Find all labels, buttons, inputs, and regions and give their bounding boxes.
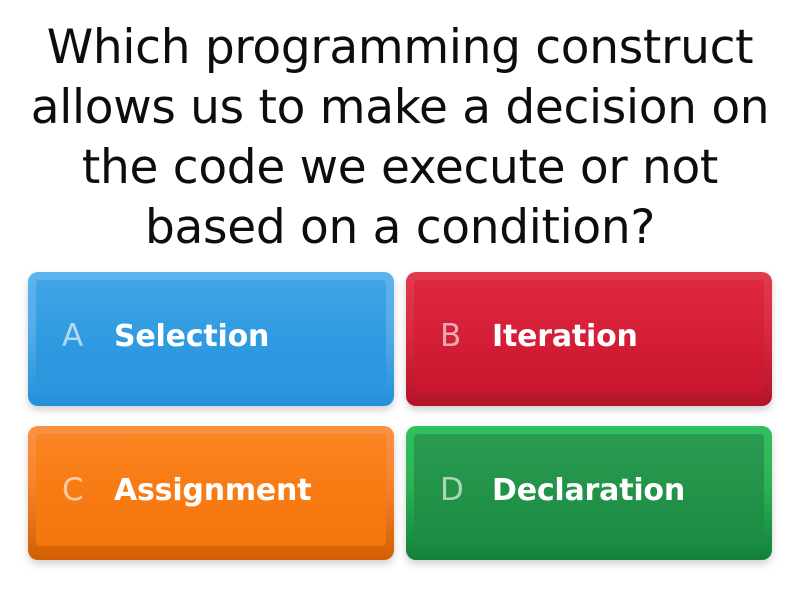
question-area: Which programming construct allows us to… bbox=[0, 0, 800, 272]
answer-option-a-face: A Selection bbox=[36, 280, 386, 392]
answer-option-b-face: B Iteration bbox=[414, 280, 764, 392]
answer-option-b-letter: B bbox=[440, 321, 492, 352]
answer-option-a-label: Selection bbox=[114, 320, 269, 353]
answer-option-c-face: C Assignment bbox=[36, 434, 386, 546]
answer-option-a-letter: A bbox=[62, 321, 114, 352]
answer-option-d-label: Declaration bbox=[492, 474, 685, 507]
question-text: Which programming construct allows us to… bbox=[30, 18, 770, 258]
answer-option-b[interactable]: B Iteration bbox=[406, 272, 772, 406]
answer-option-c-letter: C bbox=[62, 475, 114, 506]
quiz-screen: Which programming construct allows us to… bbox=[0, 0, 800, 600]
answer-option-c[interactable]: C Assignment bbox=[28, 426, 394, 560]
answer-option-d[interactable]: D Declaration bbox=[406, 426, 772, 560]
answer-option-d-face: D Declaration bbox=[414, 434, 764, 546]
answer-option-d-letter: D bbox=[440, 475, 492, 506]
answer-option-b-label: Iteration bbox=[492, 320, 638, 353]
answer-option-a[interactable]: A Selection bbox=[28, 272, 394, 406]
answer-options-grid: A Selection B Iteration C Assignment D D… bbox=[0, 272, 800, 600]
answer-option-c-label: Assignment bbox=[114, 474, 311, 507]
